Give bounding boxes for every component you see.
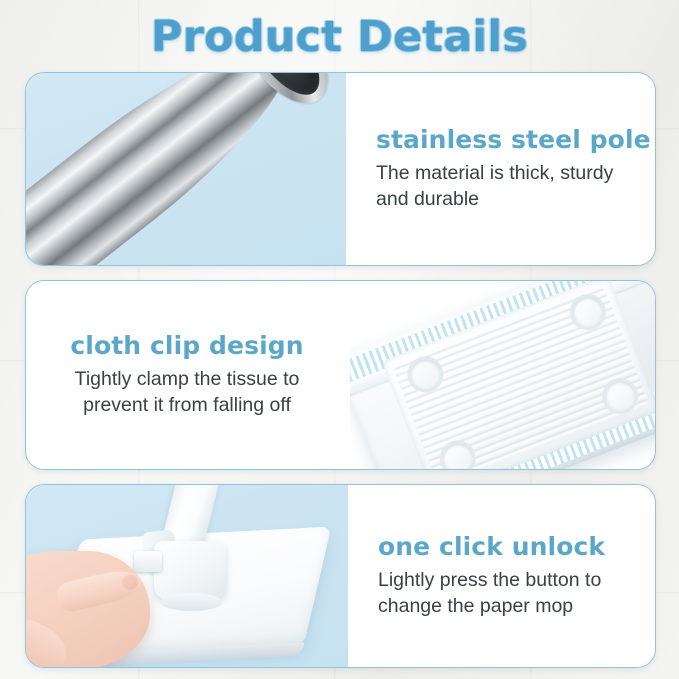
hand-shape: [26, 551, 150, 667]
feature-text-cloth-clip-design: cloth clip design Tightly clamp the tiss…: [26, 281, 350, 469]
feature-description: The material is thick, sturdy and durabl…: [376, 161, 651, 212]
feature-card-stainless-steel-pole: stainless steel pole The material is thi…: [25, 72, 656, 266]
feature-text-one-click-unlock: one click unlock Lightly press the butto…: [348, 485, 655, 667]
hand-pressing-button-photo: [26, 485, 348, 667]
mop-head-shape: [350, 281, 655, 469]
steel-tube-shape: [26, 73, 317, 265]
steel-tube-opening: [223, 73, 345, 119]
feature-card-one-click-unlock: one click unlock Lightly press the butto…: [25, 484, 656, 668]
feature-heading: one click unlock: [378, 533, 637, 561]
feature-heading: cloth clip design: [44, 332, 330, 360]
product-details-infographic: Product Details stainless steel pole The…: [0, 0, 679, 679]
feature-card-cloth-clip-design: cloth clip design Tightly clamp the tiss…: [25, 280, 656, 470]
index-finger: [54, 566, 145, 615]
feature-text-stainless-steel-pole: stainless steel pole The material is thi…: [346, 73, 656, 265]
mop-swivel-joint: [154, 541, 226, 599]
release-button: [134, 551, 162, 572]
feature-description: Tightly clamp the tissue to prevent it f…: [44, 367, 330, 418]
feature-description: Lightly press the button to change the p…: [378, 568, 637, 619]
feature-heading: stainless steel pole: [376, 126, 651, 154]
stainless-steel-tube-photo: [26, 73, 346, 265]
page-title-container: Product Details: [0, 12, 679, 62]
page-title: Product Details: [151, 12, 528, 62]
mop-head-clip-photo: [350, 281, 655, 469]
thumb: [26, 611, 74, 667]
